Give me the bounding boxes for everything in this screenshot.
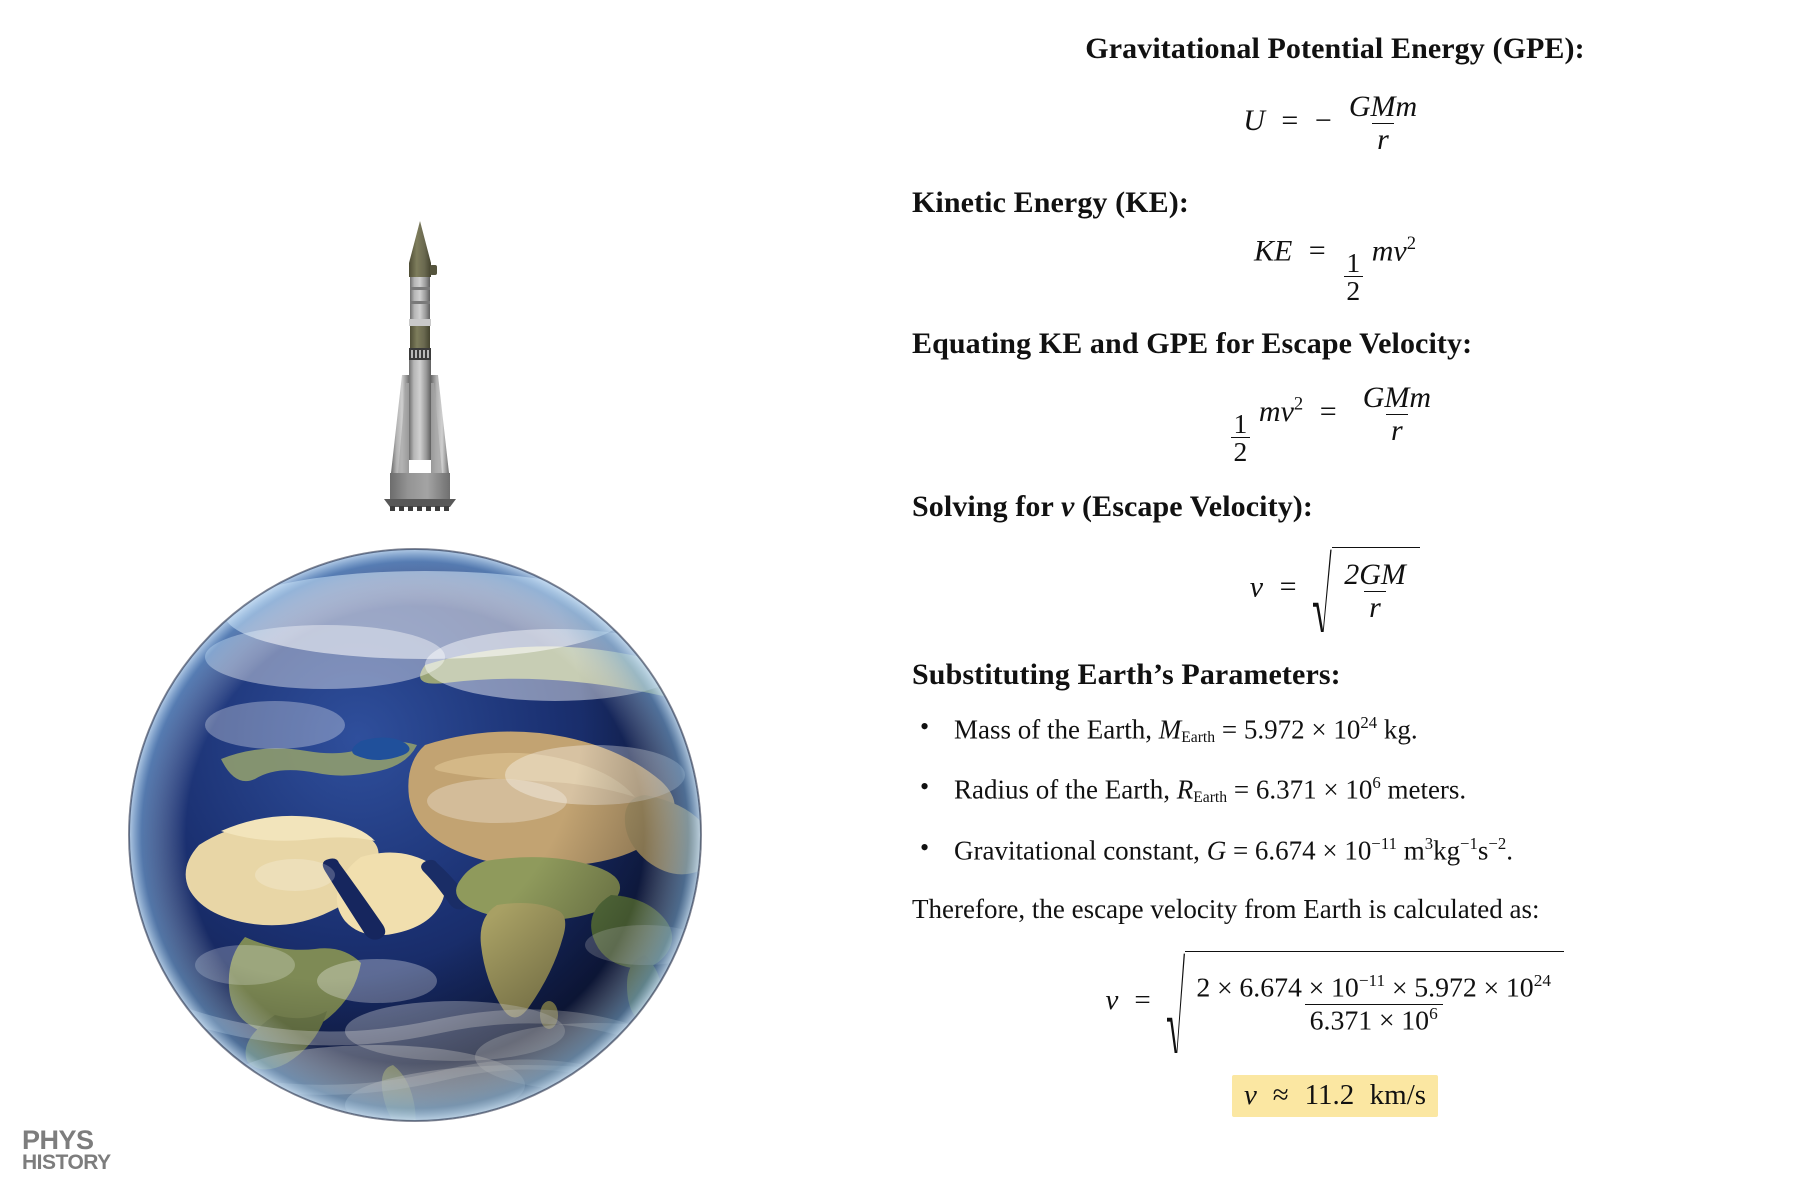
ke-relation: = [1300,234,1335,267]
result-value: 11.2 [1305,1079,1355,1111]
illustration-column: PHYS HISTORY [0,0,840,1200]
radical-sign-icon [1313,547,1332,632]
solving-relation: = [1271,570,1306,603]
final-fraction: 2×6.674×10−11×5.972×1024 6.371×106 [1191,972,1556,1035]
param-mantissa-mass: 5.972 [1244,714,1305,744]
param-label-g: Gravitational constant, [954,835,1207,865]
heading-gpe: Gravitational Potential Energy (GPE): [880,32,1790,65]
radical-sign-icon [1167,951,1185,1054]
param-mantissa-radius: 6.371 [1256,775,1317,805]
final-exp-2: 24 [1534,971,1551,990]
ke-half-fraction: 1 2 [1344,249,1363,305]
param-subscript-mass: Earth [1181,729,1215,746]
param-times-radius: × [1317,775,1346,805]
param-label-mass: Mass of the Earth, [954,714,1159,744]
result-relation: ≈ [1264,1079,1297,1111]
ke-lhs: KE [1254,234,1292,267]
equating-half-denominator: 2 [1231,437,1250,466]
param-label-radius: Radius of the Earth, [954,775,1177,805]
final-base-2: 10 [1506,973,1534,1004]
param-times-mass: × [1305,714,1334,744]
param-unit-mass: kg. [1377,714,1418,744]
heading-equating: Equating KE and GPE for Escape Velocity: [880,327,1790,360]
equation-equating: 1 2 mv2 = GMm r [880,382,1790,466]
param-symbol-radius: R [1177,775,1194,805]
param-base-radius: 10 [1345,775,1372,805]
heading-solving-symbol: v [1061,490,1074,523]
heading-ke: Kinetic Energy (KE): [880,186,1790,219]
final-num-c: 5.972 [1414,973,1477,1004]
soyuz-rocket [330,215,510,515]
param-symbol-mass: M [1159,714,1182,744]
earth-globe [125,545,705,1125]
earth-parameters-list: Mass of the Earth, MEarth = 5.972 × 1024… [880,713,1790,868]
final-radical: 2×6.674×10−11×5.972×1024 6.371×106 [1167,951,1565,1054]
param-unit-g: m [1397,835,1425,865]
ke-half-denominator: 2 [1344,276,1363,305]
gpe-denominator: r [1372,123,1394,156]
final-exp-3: 6 [1429,1004,1438,1023]
final-times-4: × [1477,973,1506,1004]
equating-relation: = [1311,395,1346,428]
param-relation-g: = [1226,835,1255,865]
param-base-mass: 10 [1333,714,1360,744]
phys-history-logo: PHYS HISTORY [22,1128,172,1172]
final-base-1: 10 [1331,973,1359,1004]
final-exp-1: −11 [1359,971,1385,990]
param-seconds-unit: s [1478,835,1489,865]
final-times-5: × [1372,1005,1401,1036]
solving-radicand: 2GM r [1332,547,1421,632]
gpe-minus-sign: − [1315,104,1332,137]
conclusion-text: Therefore, the escape velocity from Eart… [880,894,1790,925]
solving-fraction: 2GM r [1339,559,1411,624]
heading-solving: Solving for v (Escape Velocity): [880,490,1790,523]
equation-final: v = 2×6.674×10−11×5.972×1024 6.371×106 [880,951,1790,1054]
param-relation-radius: = [1227,775,1256,805]
final-lhs: v [1106,984,1119,1016]
solving-radical: 2GM r [1313,547,1420,632]
solving-denominator: r [1364,591,1386,624]
final-times-1: × [1210,973,1239,1004]
equation-solving: v = 2GM r [880,547,1790,632]
final-numerator: 2×6.674×10−11×5.972×1024 [1191,972,1556,1003]
result-unit: km/s [1362,1079,1427,1111]
equating-fraction: GMm r [1357,382,1436,447]
equating-exponent: 2 [1294,394,1303,415]
equation-gpe: U = − GMm r [880,91,1790,156]
ke-half-numerator: 1 [1344,249,1363,277]
ke-exponent: 2 [1407,233,1416,254]
solving-lhs: v [1250,570,1263,603]
heading-substituting: Substituting Earth’s Parameters: [880,658,1790,691]
gpe-relation: = [1272,104,1307,137]
infographic-page: PHYS HISTORY Gravitational Potential Ene… [0,0,1800,1200]
param-unit-sup-g: 3 [1425,834,1433,853]
final-num-b: 6.674 [1239,973,1302,1004]
param-exponent-mass: 24 [1360,713,1377,732]
param-unit-radius: meters. [1381,775,1466,805]
final-den-value: 6.371 [1310,1005,1373,1036]
final-times-3: × [1385,973,1414,1004]
equation-ke: KE = 1 2 mv2 [880,233,1790,305]
equating-denominator: r [1386,414,1408,447]
param-symbol-g: G [1207,835,1227,865]
ke-mv: mv [1372,234,1407,267]
param-exponent-g: −11 [1371,834,1397,853]
param-relation-mass: = [1215,714,1244,744]
final-base-3: 10 [1401,1005,1429,1036]
equating-mv: mv [1259,395,1294,428]
list-item-mass: Mass of the Earth, MEarth = 5.972 × 1024… [912,713,1790,747]
equating-numerator: GMm [1357,382,1436,414]
logo-line-1: PHYS [22,1128,172,1153]
final-num-a: 2 [1196,973,1210,1004]
param-times-g: × [1316,835,1345,865]
result-symbol: v [1244,1079,1257,1111]
final-denominator: 6.371×106 [1305,1004,1443,1036]
param-subscript-radius: Earth [1193,789,1227,806]
list-item-radius: Radius of the Earth, REarth = 6.371 × 10… [912,773,1790,807]
list-item-gravitational-constant: Gravitational constant, G = 6.674 × 10−1… [912,834,1790,868]
escape-velocity-result: v ≈ 11.2 km/s [1232,1075,1438,1117]
param-seconds-exponent: −2 [1488,834,1506,853]
param-exponent-radius: 6 [1372,773,1380,792]
equating-half-fraction: 1 2 [1231,410,1250,466]
param-base-g: 10 [1344,835,1371,865]
equating-half-numerator: 1 [1231,410,1250,438]
param-kg-exponent: −1 [1460,834,1478,853]
final-times-2: × [1302,973,1331,1004]
param-unit-tail-g: kg [1433,835,1460,865]
gpe-lhs: U [1243,104,1265,137]
gpe-numerator: GMm [1343,91,1422,123]
param-mantissa-g: 6.674 [1255,835,1316,865]
param-period: . [1506,835,1513,865]
derivation-column: Gravitational Potential Energy (GPE): U … [880,0,1790,1200]
logo-line-2: HISTORY [22,1153,172,1172]
solving-numerator: 2GM [1339,559,1411,591]
result-row: v ≈ 11.2 km/s [880,1075,1790,1117]
final-radicand: 2×6.674×10−11×5.972×1024 6.371×106 [1185,951,1565,1054]
final-relation: = [1126,984,1160,1016]
gpe-fraction: GMm r [1343,91,1422,156]
